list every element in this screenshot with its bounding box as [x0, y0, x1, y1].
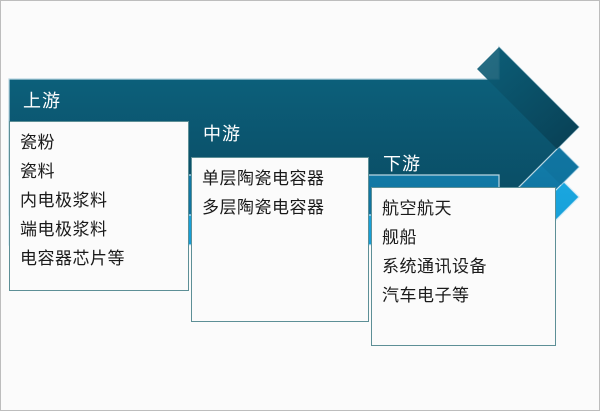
list-item: 单层陶瓷电容器: [202, 164, 358, 193]
list-item: 多层陶瓷电容器: [202, 193, 358, 222]
industry-chain-diagram: 上游 瓷粉 瓷料 内电极浆料 端电极浆料 电容器芯片等 中游 单层陶瓷电容器 多…: [0, 0, 600, 411]
stage-midstream-title: 中游: [203, 120, 241, 146]
list-item: 瓷料: [20, 157, 178, 186]
list-item: 系统通讯设备: [382, 252, 545, 281]
stage-upstream-title: 上游: [23, 87, 61, 113]
list-item: 汽车电子等: [382, 281, 545, 310]
list-item: 端电极浆料: [20, 215, 178, 244]
stage-downstream-title: 下游: [383, 150, 421, 176]
stage-midstream-body: 单层陶瓷电容器 多层陶瓷电容器: [191, 157, 369, 322]
list-item: 舰船: [382, 223, 545, 252]
list-item: 瓷粉: [20, 128, 178, 157]
list-item: 电容器芯片等: [20, 244, 178, 273]
stage-upstream-body: 瓷粉 瓷料 内电极浆料 端电极浆料 电容器芯片等: [9, 121, 189, 291]
list-item: 内电极浆料: [20, 186, 178, 215]
list-item: 航空航天: [382, 194, 545, 223]
stage-downstream-body: 航空航天 舰船 系统通讯设备 汽车电子等: [371, 187, 556, 346]
